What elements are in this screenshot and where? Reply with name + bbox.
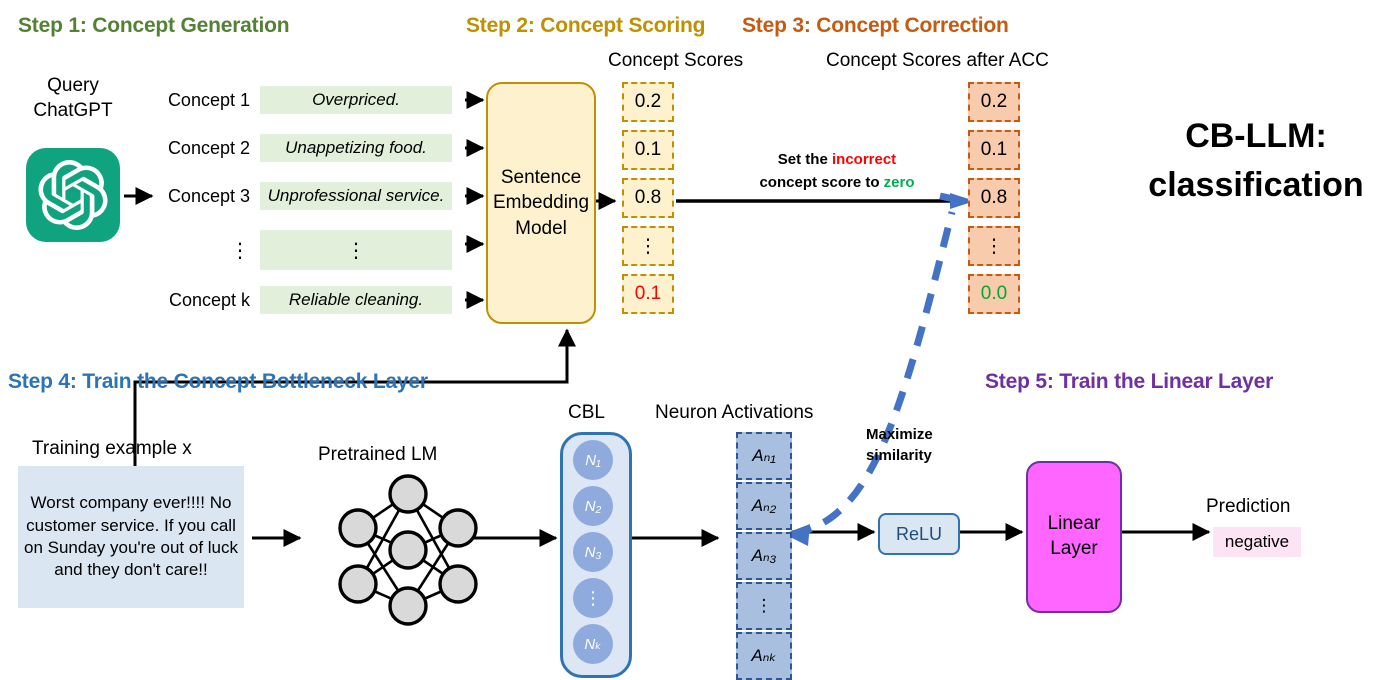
relu-label: ReLU [896, 524, 942, 545]
step4-title: Step 4: Train the Concept Bottleneck Lay… [8, 370, 428, 394]
concept-text-box: ⋮ [260, 230, 452, 270]
score-cell: 0.8 [622, 178, 674, 218]
concept-row-ellipsis: ⋮ ⋮ [152, 230, 452, 270]
acc-cell: 0.2 [968, 82, 1020, 122]
cbl-neuron-list: N₁ N₂ N₃ ⋮ Nₖ [573, 440, 613, 664]
page-title-line2: classification [1148, 161, 1364, 210]
sem-line3: Model [515, 216, 567, 242]
concept-scores-heading: Concept Scores [608, 50, 743, 72]
correction-note-part2: concept score to [759, 174, 883, 191]
activation-cell: Aₙₖ [736, 632, 792, 680]
linear-layer-line1: Linear [1048, 512, 1101, 537]
correction-note: Set the incorrect concept score to zero [712, 148, 962, 195]
concept-text: Overpriced. [312, 90, 400, 110]
activation-cell: Aₙ₃ [736, 532, 792, 580]
step2-title: Step 2: Concept Scoring [466, 14, 705, 38]
sem-line2: Embedding [493, 190, 589, 216]
query-caption: Query ChatGPT [18, 74, 128, 123]
score-cell-ellipsis: ⋮ [622, 226, 674, 266]
correction-note-line2: concept score to zero [712, 171, 962, 194]
concept-scores-acc-column: 0.2 0.1 0.8 ⋮ 0.0 [968, 82, 1020, 314]
score-cell: 0.1 [622, 130, 674, 170]
neuron-activations-caption: Neuron Activations [655, 402, 813, 424]
concept-row: Concept 2 Unappetizing food. [152, 134, 452, 162]
cbl-neuron: Nₖ [573, 624, 613, 664]
score-cell-highlighted: 0.1 [622, 274, 674, 314]
concept-label: Concept 1 [152, 90, 250, 111]
concept-text-box: Overpriced. [260, 86, 452, 114]
correction-note-part1: Set the [778, 151, 832, 168]
concept-label: Concept 2 [152, 138, 250, 159]
concept-scores-column: 0.2 0.1 0.8 ⋮ 0.1 [622, 82, 674, 314]
activation-cell: Aₙ₁ [736, 432, 792, 480]
training-example-box: Worst company ever!!!! No customer servi… [18, 466, 244, 608]
query-line1: Query [18, 74, 128, 99]
concept-text: ⋮ [346, 238, 366, 263]
step3-title: Step 3: Concept Correction [742, 14, 1009, 38]
page-title: CB-LLM: classification [1148, 112, 1364, 211]
concept-text: Reliable cleaning. [289, 290, 423, 310]
sem-line1: Sentence [501, 165, 581, 191]
concept-text: Unappetizing food. [285, 138, 427, 158]
prediction-value-box: negative [1213, 527, 1301, 557]
step5-title: Step 5: Train the Linear Layer [985, 370, 1273, 394]
page-title-line1: CB-LLM: [1148, 112, 1364, 161]
concept-text-box: Unappetizing food. [260, 134, 452, 162]
maximize-similarity-label: Maximize similarity [866, 424, 933, 466]
concept-row: Concept k Reliable cleaning. [152, 286, 452, 314]
prediction-value: negative [1225, 532, 1289, 552]
concept-label: Concept 3 [152, 186, 250, 207]
training-example-caption-text: Training example x [32, 438, 192, 459]
training-example-text: Worst company ever!!!! No customer servi… [22, 492, 240, 582]
training-example-caption: Training example x [32, 438, 192, 460]
cbl-neuron: N₂ [573, 486, 613, 526]
acc-cell-highlighted: 0.0 [968, 274, 1020, 314]
pretrained-lm-network-icon [318, 472, 518, 672]
cbl-neuron: N₃ [573, 532, 613, 572]
acc-cell: 0.8 [968, 178, 1020, 218]
step1-title: Step 1: Concept Generation [18, 14, 289, 38]
cbl-neuron: N₁ [573, 440, 613, 480]
concept-label: Concept k [152, 290, 250, 311]
cbl-neuron-ellipsis: ⋮ [573, 578, 613, 618]
activation-cell: Aₙ₂ [736, 482, 792, 530]
correction-note-line1: Set the incorrect [712, 148, 962, 171]
acc-cell: 0.1 [968, 130, 1020, 170]
concept-label: ⋮ [152, 238, 250, 263]
prediction-caption: Prediction [1206, 496, 1291, 518]
linear-layer-box: Linear Layer [1026, 461, 1122, 613]
correction-note-zero: zero [884, 174, 915, 191]
pretrained-lm-caption: Pretrained LM [318, 444, 437, 466]
chatgpt-logo-icon [26, 148, 120, 242]
concept-row: Concept 1 Overpriced. [152, 86, 452, 114]
neuron-activations-column: Aₙ₁ Aₙ₂ Aₙ₃ ⋮ Aₙₖ [736, 432, 792, 680]
acc-cell-ellipsis: ⋮ [968, 226, 1020, 266]
query-line2: ChatGPT [18, 99, 128, 124]
concept-scores-acc-heading: Concept Scores after ACC [826, 50, 1049, 72]
maximize-similarity-line1: Maximize [866, 424, 933, 445]
relu-box: ReLU [878, 513, 960, 555]
concept-list: Concept 1 Overpriced. Concept 2 Unappeti… [152, 86, 452, 314]
maximize-similarity-line2: similarity [866, 445, 933, 466]
concept-row: Concept 3 Unprofessional service. [152, 182, 452, 210]
concept-text: Unprofessional service. [268, 186, 445, 206]
concept-text-box: Unprofessional service. [260, 182, 452, 210]
cbl-caption: CBL [568, 402, 605, 424]
linear-layer-line2: Layer [1050, 537, 1098, 562]
score-cell: 0.2 [622, 82, 674, 122]
correction-note-incorrect: incorrect [832, 151, 896, 168]
concept-text-box: Reliable cleaning. [260, 286, 452, 314]
activation-cell-ellipsis: ⋮ [736, 582, 792, 630]
sentence-embedding-model-box: Sentence Embedding Model [486, 82, 596, 324]
